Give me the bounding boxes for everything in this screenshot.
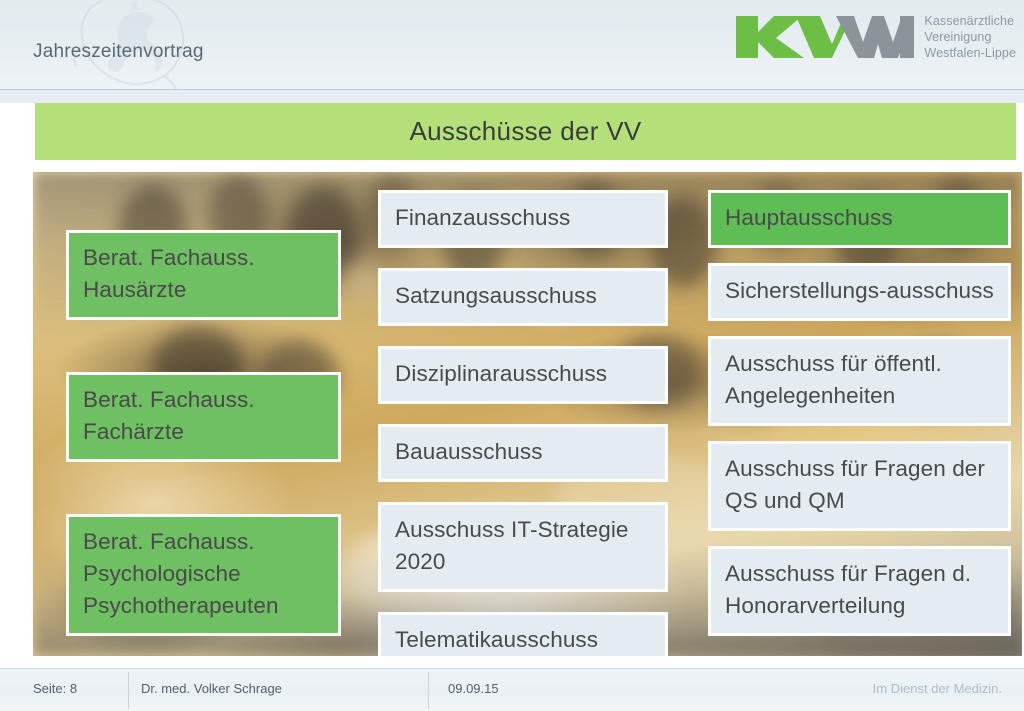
committee-label: Ausschuss IT-Strategie 2020: [395, 517, 629, 574]
committee-label: Bauausschuss: [395, 439, 543, 464]
committee-box[interactable]: Disziplinarausschuss: [378, 346, 668, 404]
footer-divider: [128, 672, 129, 709]
logo-line-1: Kassenärztliche: [924, 13, 1016, 29]
committee-box[interactable]: Ausschuss für Fragen der QS und QM: [708, 441, 1011, 531]
committee-label: Sicherstellungs-ausschuss: [725, 278, 994, 303]
committee-label: Ausschuss für Fragen d. Honorarverteilun…: [725, 561, 971, 618]
committee-box[interactable]: Telematikausschuss: [378, 612, 668, 656]
page-title: Jahreszeitenvortrag: [33, 41, 204, 63]
committee-label: Hauptausschuss: [725, 205, 893, 230]
footer-page-number: Seite: 8: [33, 681, 77, 696]
slide-footer: Seite: 8 Dr. med. Volker Schrage 09.09.1…: [0, 668, 1024, 711]
kvwl-logo: Kassenärztliche Vereinigung Westfalen-Li…: [734, 9, 1016, 65]
committee-label: Berat. Fachauss. Fachärzte: [83, 387, 255, 444]
slide: Jahreszeitenvortrag Kassenärztliche Vere…: [0, 0, 1024, 711]
kvwl-logo-mark-icon: [734, 12, 914, 62]
committee-label: Ausschuss für Fragen der QS und QM: [725, 456, 985, 513]
column-ausschuesse-mitte: Finanzausschuss Satzungsausschuss Diszip…: [378, 190, 668, 656]
header-subband: [0, 90, 1024, 103]
slide-header: Jahreszeitenvortrag Kassenärztliche Vere…: [0, 0, 1024, 90]
committee-box[interactable]: Ausschuss IT-Strategie 2020: [378, 502, 668, 592]
slide-title: Ausschüsse der VV: [410, 116, 642, 147]
slide-title-bar: Ausschüsse der VV: [35, 103, 1016, 160]
slide-content: Berat. Fachauss. Hausärzte Berat. Fachau…: [33, 172, 1022, 656]
committee-label: Disziplinarausschuss: [395, 361, 607, 386]
committee-box[interactable]: Berat. Fachauss. Fachärzte: [66, 372, 341, 462]
column-ausschuesse-rechts: Hauptausschuss Sicherstellungs-ausschuss…: [708, 190, 1011, 636]
committee-box[interactable]: Finanzausschuss: [378, 190, 668, 248]
committee-box[interactable]: Sicherstellungs-ausschuss: [708, 263, 1011, 321]
footer-date: 09.09.15: [448, 681, 499, 696]
committee-box[interactable]: Berat. Fachauss. Psychologische Psychoth…: [66, 514, 341, 636]
committee-label: Satzungsausschuss: [395, 283, 597, 308]
committee-label: Berat. Fachauss. Psychologische Psychoth…: [83, 529, 279, 618]
column-beratende-fachausschuesse: Berat. Fachauss. Hausärzte Berat. Fachau…: [66, 230, 341, 636]
footer-author: Dr. med. Volker Schrage: [141, 681, 282, 696]
kvwl-logo-wordmark: Kassenärztliche Vereinigung Westfalen-Li…: [924, 13, 1016, 61]
logo-line-2: Vereinigung: [924, 29, 1016, 45]
committee-label: Ausschuss für öffentl. Angelegenheiten: [725, 351, 942, 408]
logo-line-3: Westfalen-Lippe: [924, 45, 1016, 61]
committee-box[interactable]: Bauausschuss: [378, 424, 668, 482]
footer-claim: Im Dienst der Medizin.: [873, 681, 1002, 696]
committee-label: Berat. Fachauss. Hausärzte: [83, 245, 255, 302]
committee-box[interactable]: Ausschuss für öffentl. Angelegenheiten: [708, 336, 1011, 426]
committee-box[interactable]: Ausschuss für Fragen d. Honorarverteilun…: [708, 546, 1011, 636]
committee-label: Finanzausschuss: [395, 205, 570, 230]
committee-box[interactable]: Berat. Fachauss. Hausärzte: [66, 230, 341, 320]
footer-divider: [428, 672, 429, 709]
committee-box[interactable]: Satzungsausschuss: [378, 268, 668, 326]
committee-label: Telematikausschuss: [395, 627, 598, 652]
committee-box[interactable]: Hauptausschuss: [708, 190, 1011, 248]
